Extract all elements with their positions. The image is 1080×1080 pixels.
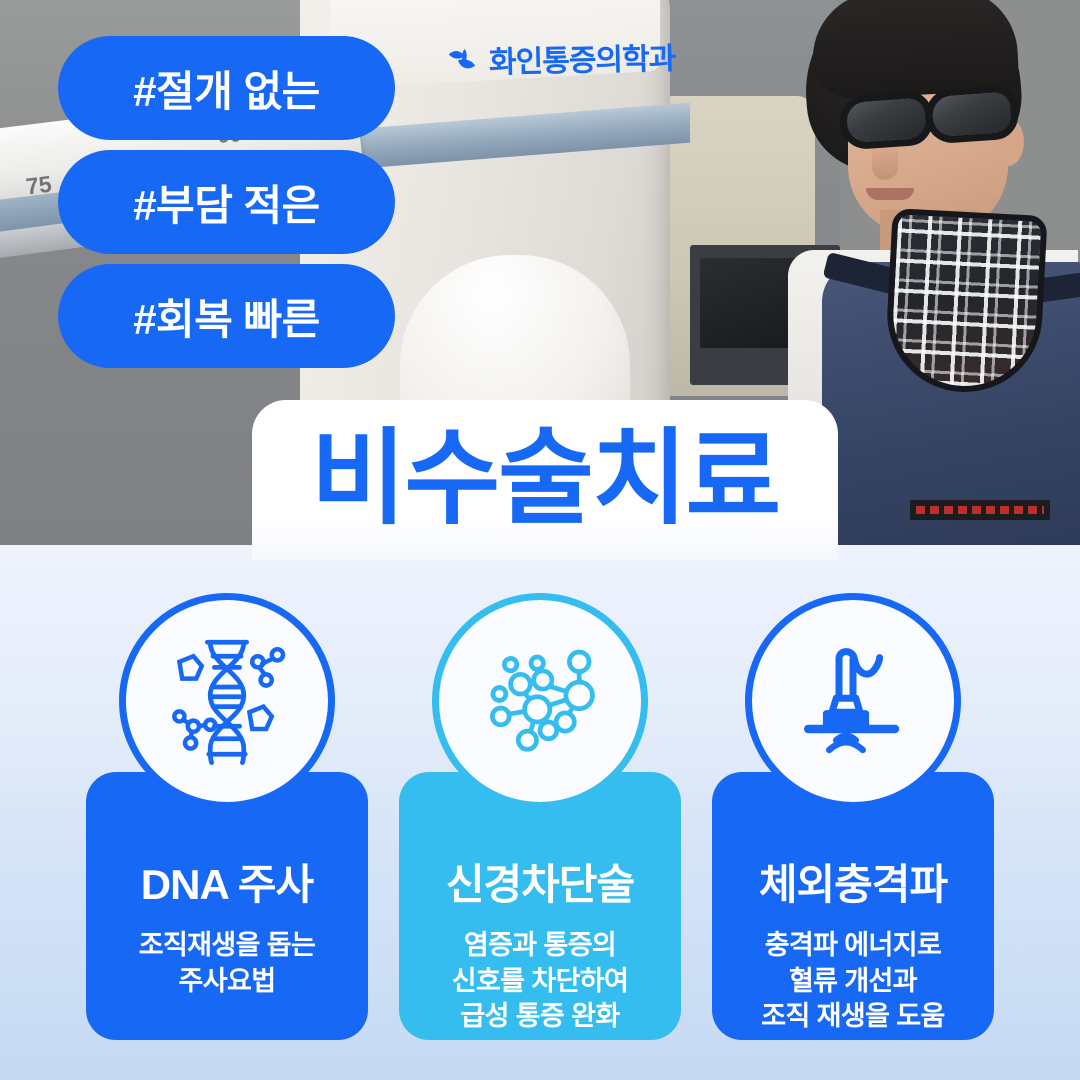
treatment-icon-badge-dna [119, 593, 335, 809]
poster-root: 75 90 60 [0, 0, 1080, 1080]
apron-label [910, 500, 1050, 520]
treatment-card-nerve-block[interactable]: 신경차단술 염증과 통증의 신호를 차단하여 급성 통증 완화 [399, 772, 681, 1040]
dna-helix-icon [157, 631, 297, 771]
lower-section: DNA 주사 조직재생을 돕는 주사요법 신경차단술 염증과 통증의 신호를 차… [0, 545, 1080, 1080]
neural-network-icon [470, 631, 610, 771]
hashtag-pill-low-burden[interactable]: #부담 적은 [58, 150, 395, 254]
treatment-card-dna-injection[interactable]: DNA 주사 조직재생을 돕는 주사요법 [86, 772, 368, 1040]
glasses-lens-left [838, 90, 934, 150]
card-description: 조직재생을 돕는 주사요법 [139, 928, 316, 999]
treatment-cards: DNA 주사 조직재생을 돕는 주사요법 신경차단술 염증과 통증의 신호를 차… [0, 545, 1080, 1080]
card-title: 신경차단술 [446, 864, 634, 906]
glasses-lens-right [924, 84, 1020, 144]
card-description: 염증과 통증의 신호를 차단하여 급성 통증 완화 [452, 928, 629, 1035]
treatment-icon-badge-shockwave [745, 593, 961, 809]
hashtag-label: #절개 없는 [133, 58, 320, 119]
page-title: 비수술치료 [311, 427, 779, 531]
card-description: 충격파 에너지로 혈류 개선과 조직 재생을 도움 [761, 928, 944, 1035]
hashtag-pill-fast-recovery[interactable]: #회복 빠른 [58, 264, 395, 368]
card-title: 체외충격파 [759, 864, 947, 906]
clinic-logo: 화인통증의학과 [448, 34, 676, 83]
shockwave-probe-icon [783, 631, 923, 771]
clinic-logo-text: 화인통증의학과 [489, 34, 676, 82]
doctor-mouth [866, 188, 914, 200]
treatment-card-shockwave[interactable]: 체외충격파 충격파 에너지로 혈류 개선과 조직 재생을 도움 [712, 772, 994, 1040]
leaf-bird-logo-icon [448, 47, 483, 74]
photo-scale-number-75: 75 [24, 171, 53, 201]
hashtag-pill-no-incision[interactable]: #절개 없는 [58, 36, 395, 140]
card-title: DNA 주사 [141, 864, 313, 906]
hashtag-label: #회복 빠른 [133, 286, 320, 347]
hashtag-label: #부담 적은 [133, 172, 320, 233]
treatment-icon-badge-nerve [432, 593, 648, 809]
headline-card: 비수술치료 [252, 400, 838, 560]
